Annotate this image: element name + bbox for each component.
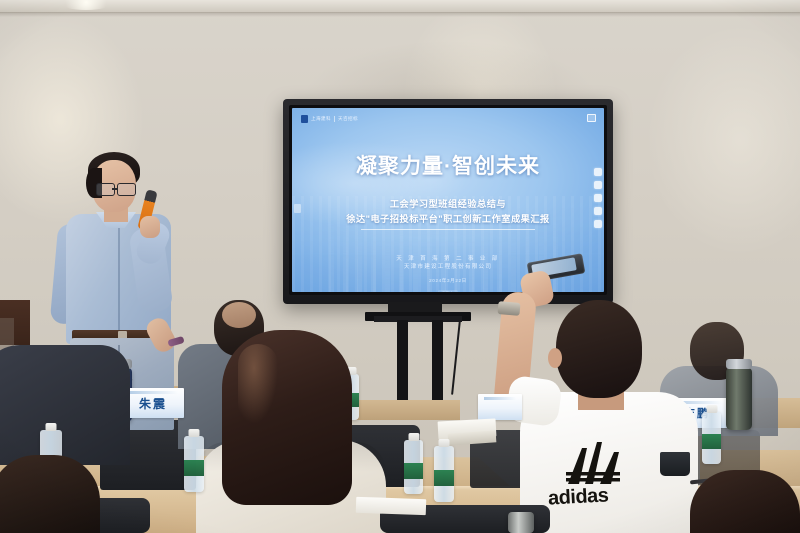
- attendee-ear: [548, 348, 562, 368]
- attendee-front-far-left: [0, 455, 100, 533]
- water-bottle: [184, 436, 204, 492]
- undo-icon[interactable]: [594, 168, 602, 176]
- display-stand-leg-right: [432, 320, 443, 400]
- bottle-label: [434, 470, 454, 487]
- sub-brand-name: 天咨招标: [338, 116, 358, 122]
- adidas-trefoil-icon: [564, 438, 620, 484]
- name-card-text: 朱震: [139, 395, 167, 412]
- screen-side-toolbar[interactable]: [594, 168, 602, 228]
- slide-title: 凝聚力量·智创未来: [292, 150, 604, 180]
- display-stand-bracket-lower: [374, 316, 462, 322]
- brand-name: 上海建科: [311, 116, 331, 122]
- presenter-hand: [140, 216, 160, 238]
- bottle-cap: [46, 423, 57, 431]
- bottle-label: [702, 434, 721, 450]
- slide-subtitle-line1: 工会学习型班组经验总结与: [292, 196, 604, 210]
- brand-mark-icon: [301, 115, 308, 123]
- name-card-header: [484, 397, 516, 400]
- thermos-lid: [726, 359, 752, 369]
- bottle-label: [184, 460, 204, 477]
- papers: [356, 497, 427, 515]
- attendee-head: [556, 300, 642, 398]
- water-bottle: [434, 446, 454, 502]
- bottle-cap: [408, 433, 419, 441]
- presenter-shirt-placket: [118, 220, 120, 330]
- water-bottle: [702, 412, 721, 464]
- name-card: [478, 394, 522, 420]
- cup: [660, 452, 690, 476]
- glasses-bridge: [112, 188, 118, 190]
- glasses-lens-right: [117, 183, 136, 196]
- adidas-wordmark: adidas: [547, 484, 608, 510]
- attendee-scalp: [222, 302, 256, 328]
- slide-subtitle-line2: 徐达"电子招投标平台"职工创新工作室成果汇报: [292, 211, 604, 225]
- attendee-hair-highlight: [238, 344, 278, 424]
- next-icon[interactable]: [594, 194, 602, 202]
- apps-icon[interactable]: [594, 220, 602, 228]
- attendee-front-left: [0, 345, 130, 465]
- slide-badge: 汇报人: [438, 290, 458, 292]
- display-stand-leg-left: [397, 320, 408, 408]
- silver-thermos: [508, 512, 534, 533]
- bottle-label: [404, 463, 423, 479]
- window-icon[interactable]: [587, 114, 596, 122]
- attendee-front-right: [690, 470, 800, 533]
- ceiling-shadow: [0, 12, 800, 17]
- bottle-cap: [706, 405, 717, 413]
- capture-icon[interactable]: [594, 207, 602, 215]
- name-card: 朱震: [122, 388, 184, 418]
- slide-date: 2024年3月22日: [292, 278, 604, 284]
- wristwatch: [497, 301, 520, 316]
- logo-divider: [334, 116, 335, 122]
- slide-brand-logo: 上海建科 天咨招标: [301, 115, 358, 123]
- presentation-room-photo: 上海建科 天咨招标 凝聚力量·智创未来 工会学习型班组经验总结与 徐达"电子招投…: [0, 0, 800, 533]
- slide-divider-rule: [361, 229, 536, 230]
- bottle-cap: [189, 429, 200, 437]
- home-icon[interactable]: [594, 181, 602, 189]
- green-thermos: [726, 368, 752, 430]
- name-card-header: [128, 391, 178, 394]
- water-bottle: [404, 440, 423, 494]
- bottle-cap: [439, 439, 450, 447]
